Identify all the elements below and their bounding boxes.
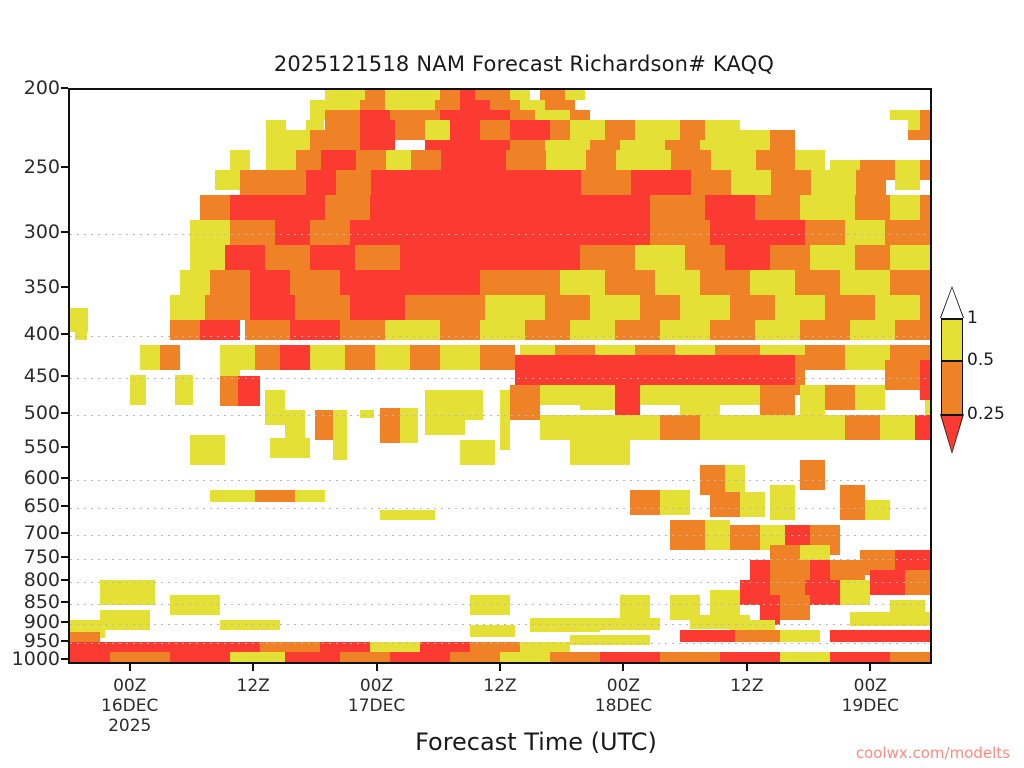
x-tick-label: 00Z 16DEC 2025 xyxy=(101,676,158,736)
x-tick-label: 12Z xyxy=(483,676,516,696)
x-tick-label: 00Z 18DEC xyxy=(595,676,652,716)
x-axis: 00Z 16DEC 202512Z00Z 17DEC12Z00Z 18DEC12… xyxy=(0,0,1024,768)
colorbar-seg-0.5-1 xyxy=(941,318,963,360)
colorbar-tick-label: 0.5 xyxy=(967,350,994,370)
x-tick-mark xyxy=(622,664,624,671)
x-tick-label: 12Z xyxy=(730,676,763,696)
colorbar-boundary xyxy=(941,414,963,416)
colorbar-arrow-above-1 xyxy=(941,288,963,318)
x-tick-label: 00Z 19DEC xyxy=(842,676,899,716)
x-tick-mark xyxy=(746,664,748,671)
x-tick-mark xyxy=(252,664,254,671)
colorbar-arrow-below-025 xyxy=(941,414,963,452)
x-tick-mark xyxy=(376,664,378,671)
watermark: coolwx.com/modelts xyxy=(856,744,1010,762)
x-tick-label: 12Z xyxy=(237,676,270,696)
colorbar-seg-0.25-0.5 xyxy=(941,360,963,414)
colorbar-boundary xyxy=(941,318,963,320)
colorbar-boundary xyxy=(941,360,963,362)
x-tick-mark xyxy=(869,664,871,671)
colorbar-tick-label: 1 xyxy=(967,308,978,328)
colorbar-tick-label: 0.25 xyxy=(967,404,1005,424)
x-tick-mark xyxy=(499,664,501,671)
x-tick-mark xyxy=(129,664,131,671)
x-tick-label: 00Z 17DEC xyxy=(348,676,405,716)
